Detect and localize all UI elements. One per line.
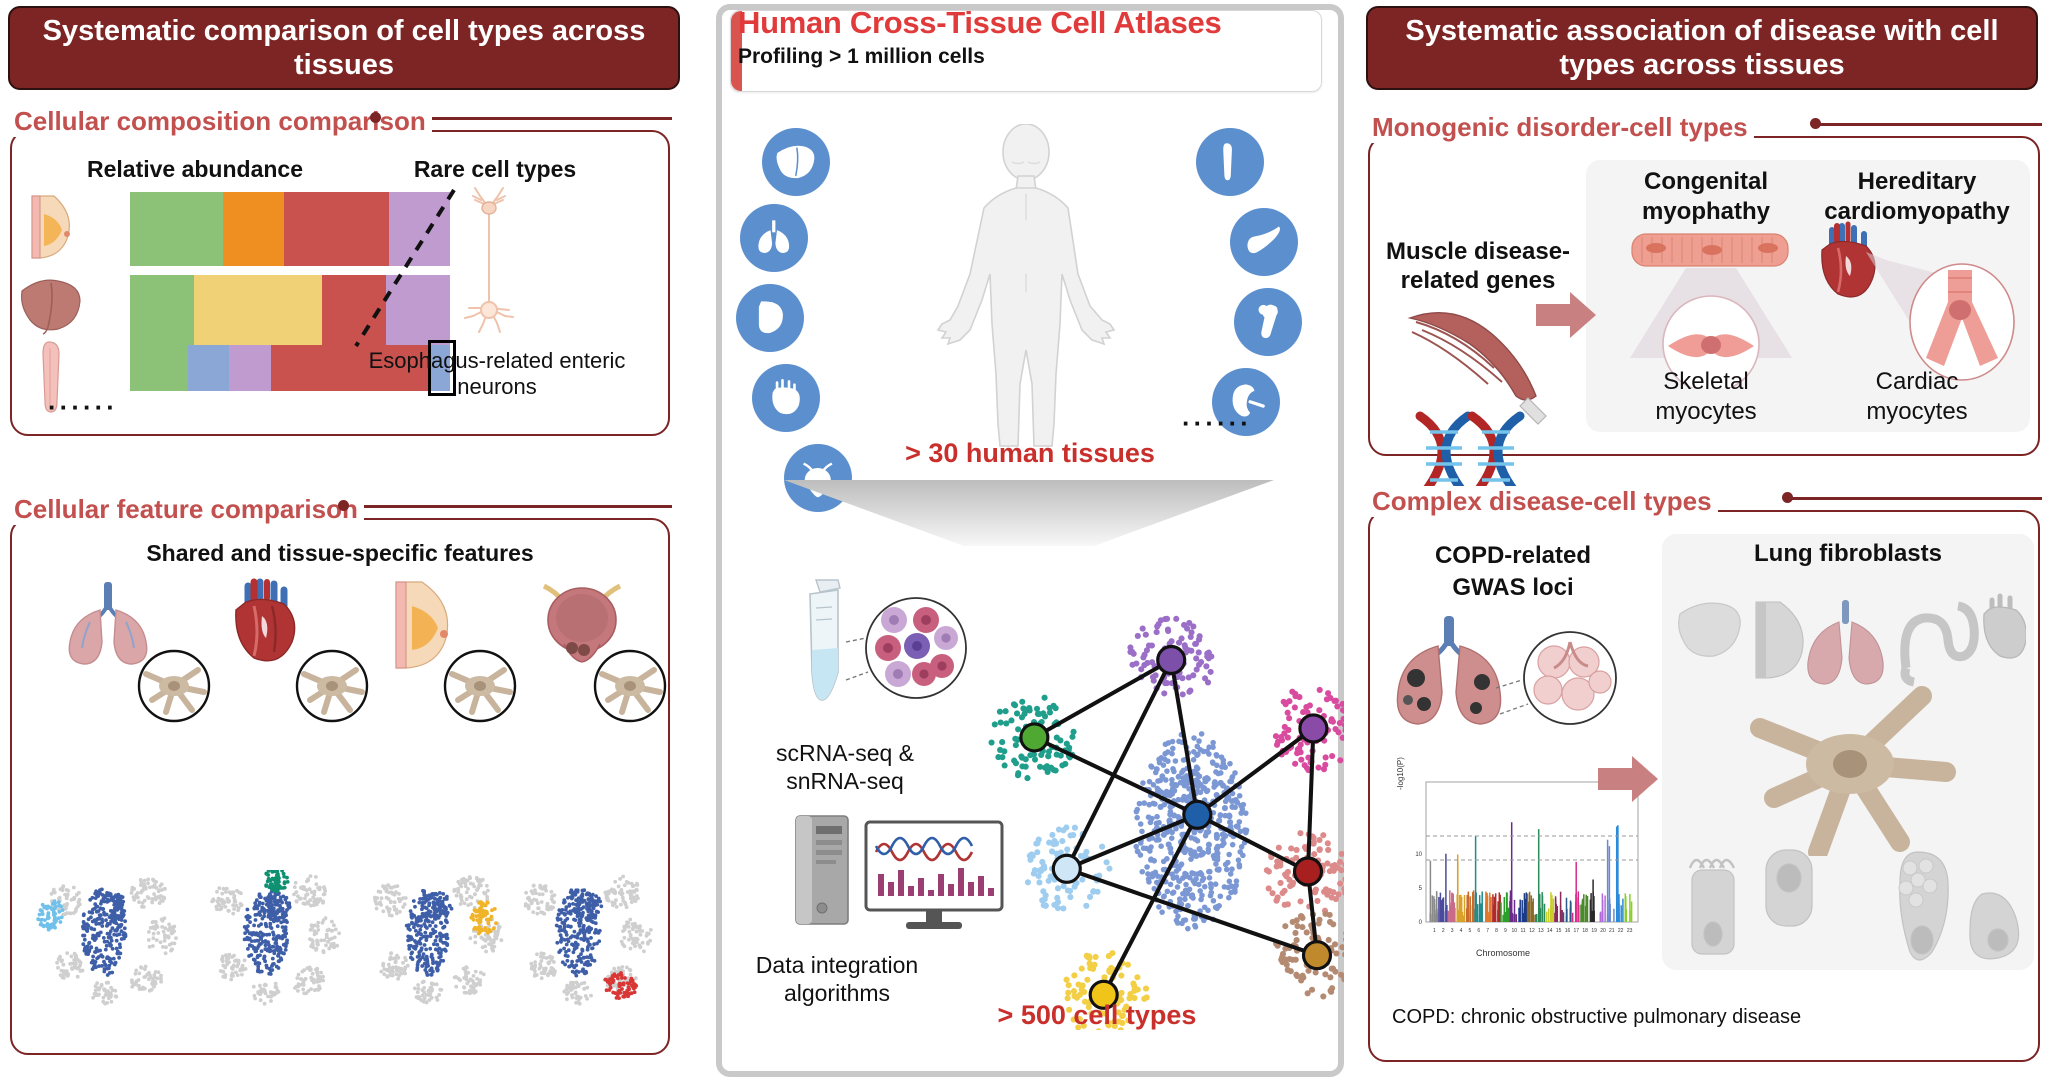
graphical-abstract: Systematic comparison of cell types acro… [0,0,2049,1081]
dashed-connector [350,186,460,351]
tissue-circle-bone [1234,288,1302,356]
congenital-myopathy-line2: myophathy [1606,198,1806,226]
fibroblast-icon [294,648,370,724]
complex-disease-title: Complex disease-cell types [1366,486,1718,517]
copd-gwas-label-line1: COPD-related [1386,542,1640,571]
hook-dot-1 [370,112,381,123]
bar-segment [130,345,188,391]
liver-grey-icon [1679,603,1741,656]
skeletal-muscle-icon [1616,228,1806,388]
colon-grey-icon [1905,606,1974,682]
svg-text:9: 9 [1504,928,1507,934]
rare-cell-caption: Esophagus-related enteric neurons [362,348,632,401]
fibroblast-icon [592,648,668,724]
svg-text:0: 0 [1419,920,1423,926]
lung-grey-icon [1808,600,1883,684]
cell-type-network [948,560,1344,1030]
bar-segment [194,275,322,349]
svg-text:10: 10 [1512,928,1518,934]
breast-icon [22,192,78,262]
umap-plot-2 [198,870,358,1020]
umap-plot-4 [510,870,670,1020]
umap-plot-3 [360,870,520,1020]
lung-copd-icon [1388,612,1638,762]
esophagus-icon [1208,140,1252,184]
heart-icon [1810,218,2024,390]
tissue-circle-stomach [736,284,804,352]
method-label-1-line2: snRNA-seq [740,768,950,794]
svg-text:7: 7 [1486,928,1489,934]
fibroblast-icon [1746,676,1956,856]
bar-segment [223,192,284,266]
svg-text:19: 19 [1591,928,1597,934]
skeletal-myocytes-line2: myocytes [1606,398,1806,426]
center-ellipsis: ······ [1182,408,1252,439]
tissue-circle-heart [752,364,820,432]
tissue-circle-liver [762,128,830,196]
cardiac-myocytes-line2: myocytes [1814,398,2020,426]
svg-text:11: 11 [1520,928,1525,934]
umap-plot-1 [36,870,196,1020]
tissue-circle-esophagus [1196,128,1264,196]
svg-text:6: 6 [1477,928,1480,934]
arrow-right-icon [1536,290,1598,340]
stomach-icon [748,296,792,340]
right-column: Systematic association of disease with c… [1358,0,2049,1081]
svg-text:5: 5 [1419,886,1423,892]
method-label-1-line1: scRNA-seq & [740,740,950,766]
bar-segment [188,345,230,391]
svg-text:20: 20 [1600,928,1606,934]
svg-text:12: 12 [1529,928,1535,934]
copd-gwas-label-line2: GWAS loci [1386,574,1640,603]
cellular-feature-title: Cellular feature comparison [8,494,364,525]
pancreas-icon [1242,220,1286,264]
neuron-icon [455,182,523,344]
heart-icon [764,376,808,420]
svg-text:13: 13 [1538,928,1544,934]
liver-icon [18,275,84,337]
center-title: Human Cross-Tissue Cell Atlases [738,5,1221,41]
bar-segment [130,192,223,266]
manhattan-xlabel: Chromosome [1476,948,1530,958]
copd-footnote: COPD: chronic obstructive pulmonary dise… [1392,1006,1801,1029]
lung-icon [752,216,796,260]
hook-line-2 [346,505,672,508]
hook-dot-3 [1810,118,1821,129]
celltypes-caption: > 500 cell types [862,1000,1332,1031]
muscle-genes-label: Muscle disease-related genes [1378,238,1578,296]
funnel-shape [784,480,1274,548]
fibroblast-icon [442,648,518,724]
congenital-myopathy-line1: Congenital [1606,168,1806,196]
fibroblast-icon [136,648,212,724]
hereditary-cardiomyopathy-line1: Hereditary [1804,168,2030,196]
svg-text:3: 3 [1451,928,1454,934]
svg-text:21: 21 [1609,928,1615,934]
svg-text:14: 14 [1547,928,1553,934]
liver-icon [774,140,818,184]
bar-segment [229,345,271,391]
left-ellipsis: ······ [48,392,118,423]
arrow-right-icon [1598,754,1660,804]
rare-cell-types-label: Rare cell types [370,156,620,183]
tissues-caption: > 30 human tissues [712,438,1348,469]
bone-icon [1246,300,1290,344]
svg-text:17: 17 [1574,928,1580,934]
monogenic-disorder-title: Monogenic disorder-cell types [1366,112,1754,143]
hook-dot-4 [1782,492,1793,503]
svg-text:1: 1 [1433,928,1436,934]
bar-segment [130,275,194,349]
svg-text:23: 23 [1627,928,1633,934]
skeletal-myocytes-line1: Skeletal [1606,368,1806,396]
svg-text:8: 8 [1495,928,1498,934]
cardiac-myocytes-line1: Cardiac [1814,368,2020,396]
svg-text:4: 4 [1460,928,1463,934]
right-banner: Systematic association of disease with c… [1366,6,2038,90]
svg-text:2: 2 [1442,928,1445,934]
tissue-circle-pancreas [1230,208,1298,276]
breast-grey-icon [1756,602,1803,678]
heart-grey-icon [1984,596,2026,658]
hook-dot-2 [338,500,349,511]
left-banner: Systematic comparison of cell types acro… [8,6,680,90]
svg-text:5: 5 [1469,928,1472,934]
center-column: Human Cross-Tissue Cell Atlases Profilin… [712,0,1348,1081]
tissue-circle-lung [740,204,808,272]
lung-fibroblasts-label: Lung fibroblasts [1688,540,2008,569]
tube-icon [776,576,976,728]
cellular-composition-title: Cellular composition comparison [8,106,432,137]
svg-text:16: 16 [1565,928,1571,934]
hook-line-4 [1790,497,2042,500]
human-body-icon [926,124,1126,454]
hook-line-3 [1818,123,2042,126]
relative-abundance-label: Relative abundance [30,156,360,183]
svg-text:10: 10 [1415,852,1422,858]
svg-text:18: 18 [1582,928,1588,934]
cell-grey-icons [1682,848,2030,994]
manhattan-ylabel: -log10(P) [1396,757,1405,790]
svg-text:15: 15 [1556,928,1562,934]
svg-text:22: 22 [1618,928,1624,934]
left-column: Systematic comparison of cell types acro… [0,0,700,1081]
method-label-2-line1: Data integration [732,952,942,978]
shared-features-label: Shared and tissue-specific features [30,540,650,567]
center-subtitle: Profiling > 1 million cells [738,45,985,69]
